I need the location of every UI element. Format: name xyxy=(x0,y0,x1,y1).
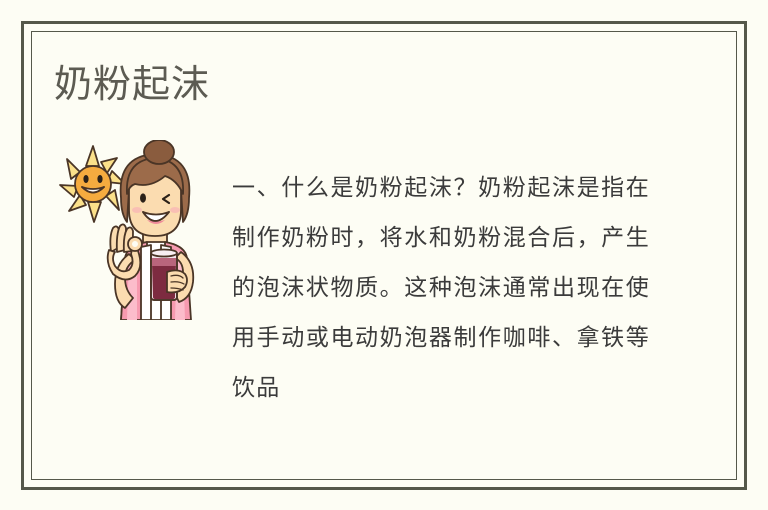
page-title: 奶粉起沫 xyxy=(54,58,210,110)
winking-woman-holding-glass xyxy=(108,140,194,320)
woman-with-drink-and-sun-illustration xyxy=(55,140,215,320)
page-root: 奶粉起沫 xyxy=(0,0,768,510)
article-body-text: 一、什么是奶粉起沫？奶粉起沫是指在制作奶粉时，将水和奶粉混合后，产生的泡沫状物质… xyxy=(232,163,650,413)
ok-hand-gesture xyxy=(108,224,142,279)
smiling-sun-icon xyxy=(60,146,125,222)
